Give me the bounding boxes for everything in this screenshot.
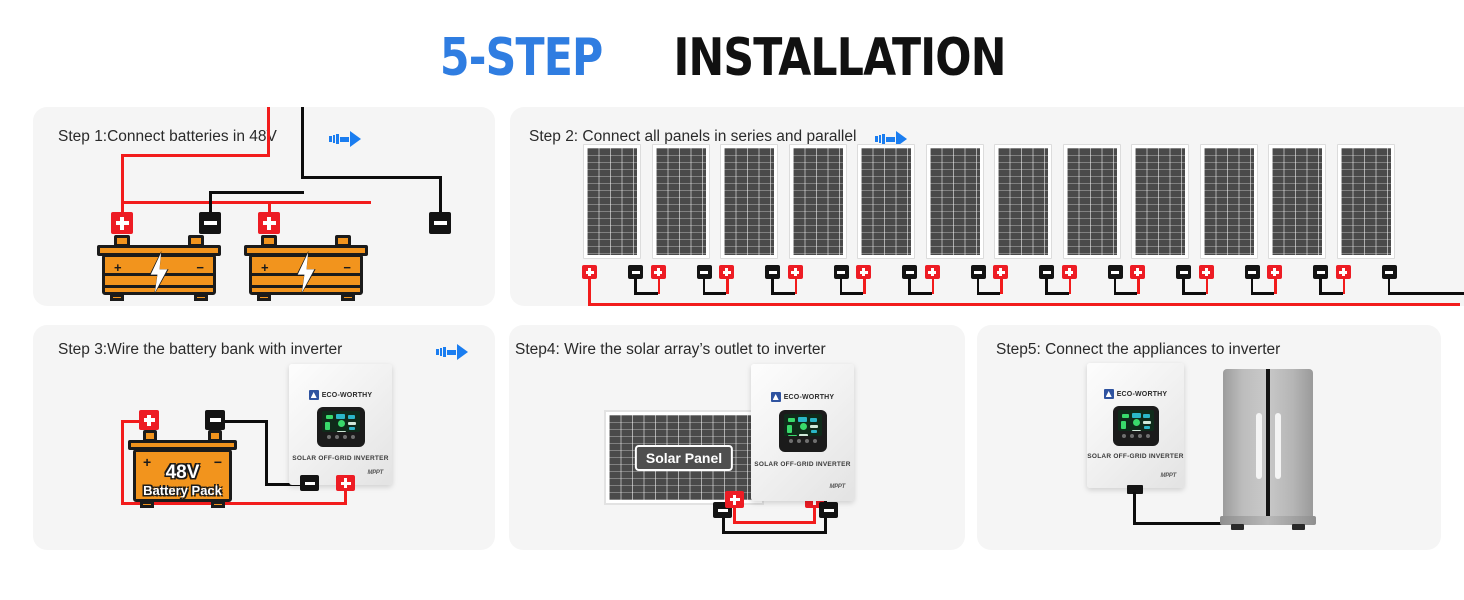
inverter-model-label: SOLAR OFF-GRID INVERTER (1087, 453, 1184, 460)
inverter-brand: ECO-WORTHY (751, 392, 854, 402)
inverter-negative-terminal-step-3 (300, 475, 319, 491)
step-2-card: Step 2: Connect all panels in series and… (510, 107, 1464, 306)
inverter-step-3: ECO-WORTHY SOLAR OFF-GRID I (289, 364, 392, 485)
panel-negative-terminal (902, 265, 917, 279)
inverter-model-label: SOLAR OFF-GRID INVERTER (751, 461, 854, 468)
battery-2-minus-symbol: − (343, 261, 351, 274)
inverter-mppt-badge: MPPT (368, 470, 383, 476)
inverter-buttons[interactable] (789, 439, 817, 443)
installation-infographic: 5-STEP INSTALLATION Step 1:Connect batte… (0, 0, 1464, 600)
solar-panel (1063, 144, 1121, 259)
solar-panel-label: Solar Panel (635, 445, 733, 471)
panel-series-wire (977, 292, 1001, 295)
panel-negative-terminal (1245, 265, 1260, 279)
battery-pack-voltage: 48V (133, 462, 232, 484)
battery-1-minus-symbol: − (196, 261, 204, 274)
refrigerator-foot-right (1292, 524, 1305, 530)
panel-series-wire (908, 292, 932, 295)
inverter-buttons[interactable] (327, 435, 355, 439)
eco-worthy-logo-icon (1104, 389, 1114, 399)
battery-2-negative-terminal (429, 212, 451, 234)
panel-negative-terminal (697, 265, 712, 279)
solar-panel (994, 144, 1052, 259)
step-3-arrow-icon (436, 344, 468, 360)
panel-positive-terminal (1336, 265, 1351, 279)
inverter-mppt-badge: MPPT (1161, 473, 1176, 479)
solar-panel (1131, 144, 1189, 259)
eco-worthy-logo-icon (771, 392, 781, 402)
inverter-lcd-screen (322, 411, 360, 432)
panel-series-wire (795, 278, 798, 294)
panel-series-wire (1274, 278, 1277, 294)
solar-panel (857, 144, 915, 259)
step-5-card: Step5: Connect the appliances to inverte… (977, 325, 1441, 550)
refrigerator-door-split (1266, 369, 1270, 525)
array-negative-lead (1388, 292, 1464, 295)
panel-series-wire (863, 278, 866, 294)
inverter-negative-terminal-step-4 (819, 502, 838, 518)
battery-2-positive-terminal (258, 212, 280, 234)
panel-positive-terminal (719, 265, 734, 279)
battery-2: + − (249, 235, 363, 295)
panel-series-wire (932, 278, 935, 294)
panel-positive-terminal (1267, 265, 1282, 279)
solar-panel (1337, 144, 1395, 259)
page-title: 5-STEP INSTALLATION (0, 32, 1464, 84)
refrigerator-handle-right (1275, 413, 1281, 479)
inverter-lcd-screen (784, 414, 822, 436)
panel-series-wire (1137, 278, 1140, 294)
inverter-buttons[interactable] (1122, 434, 1150, 438)
refrigerator-foot-left (1231, 524, 1244, 530)
inverter-brand-text: ECO-WORTHY (322, 392, 373, 399)
array-positive-bus-riser (588, 278, 591, 303)
battery-2-plus-symbol: + (261, 261, 269, 274)
panel-series-wire (1319, 292, 1343, 295)
panel-series-wire (771, 292, 795, 295)
refrigerator (1223, 369, 1313, 525)
step-1-card: Step 1:Connect batteries in 48V (33, 107, 495, 306)
panel-series-wire (1206, 278, 1209, 294)
array-positive-bus (588, 303, 1460, 306)
inverter-display (1113, 406, 1159, 446)
refrigerator-handle-left (1256, 413, 1262, 479)
panel-positive-terminal (1130, 265, 1145, 279)
panel-positive-terminal (1199, 265, 1214, 279)
panel-positive-terminal (856, 265, 871, 279)
panel-series-wire (1251, 292, 1275, 295)
panel-series-wire (1069, 278, 1072, 294)
inverter-model-label: SOLAR OFF-GRID INVERTER (289, 455, 392, 462)
inverter-step-5: ECO-WORTHY SOLAR OFF-GRID I (1087, 363, 1184, 488)
inverter-brand: ECO-WORTHY (289, 390, 392, 400)
panel-negative-terminal (1313, 265, 1328, 279)
panel-positive-terminal (925, 265, 940, 279)
panel-series-wire (1045, 292, 1069, 295)
battery-pack-positive-terminal (139, 410, 159, 430)
inverter-brand-text: ECO-WORTHY (1117, 391, 1168, 398)
inverter-positive-terminal-step-3 (336, 475, 355, 491)
inverter-mppt-badge: MPPT (830, 484, 845, 490)
panel-series-wire (703, 292, 727, 295)
panel-negative-terminal (1382, 265, 1397, 279)
panel-series-wire (634, 292, 658, 295)
step-4-card: Step4: Wire the solar array’s outlet to … (509, 325, 965, 550)
battery-1-plus-symbol: + (114, 261, 122, 274)
panel-negative-terminal (1176, 265, 1191, 279)
inverter-display (779, 410, 827, 452)
inverter-brand-text: ECO-WORTHY (784, 394, 835, 401)
panel-negative-terminal (971, 265, 986, 279)
inverter-step-4: ECO-WORTHY SOLAR OFF-GRID I (751, 364, 854, 501)
panel-negative-terminal (834, 265, 849, 279)
panel-series-wire (840, 292, 864, 295)
solar-panel (926, 144, 984, 259)
step-1-arrow-icon (329, 131, 361, 147)
battery-pack-label: Battery Pack (133, 483, 232, 498)
battery-1: + − (102, 235, 216, 295)
panel-negative-terminal (1108, 265, 1123, 279)
inverter-brand: ECO-WORTHY (1087, 389, 1184, 399)
step-3-card: Step 3:Wire the battery bank with invert… (33, 325, 495, 550)
solar-panel (789, 144, 847, 259)
panel-series-wire (1000, 278, 1003, 294)
inverter-display (317, 407, 365, 447)
inverter-lcd-screen (1118, 410, 1155, 431)
panel-positive-terminal (1062, 265, 1077, 279)
step-5-title: Step5: Connect the appliances to inverte… (996, 341, 1280, 359)
title-highlight: 5-STEP (440, 32, 603, 84)
battery-pack-negative-terminal (205, 410, 225, 430)
panel-positive-terminal (651, 265, 666, 279)
step-1-title: Step 1:Connect batteries in 48V (58, 128, 277, 146)
panel-positive-terminal (993, 265, 1008, 279)
battery-1-positive-terminal (111, 212, 133, 234)
panel-series-wire (1343, 278, 1346, 294)
panel-negative-terminal (628, 265, 643, 279)
panel-negative-terminal (1039, 265, 1054, 279)
title-rest: INSTALLATION (674, 32, 1006, 84)
solar-panel (652, 144, 710, 259)
solar-panel (583, 144, 641, 259)
panel-series-wire (658, 278, 661, 294)
step-4-title: Step4: Wire the solar array’s outlet to … (515, 341, 826, 359)
solar-panel (720, 144, 778, 259)
step-3-title: Step 3:Wire the battery bank with invert… (58, 341, 342, 359)
battery-pack-48v: + − 48V Battery Pack (133, 430, 232, 502)
panel-negative-terminal (765, 265, 780, 279)
panel-positive-terminal (582, 265, 597, 279)
battery-1-negative-terminal (199, 212, 221, 234)
appliance-cable-vertical (1133, 492, 1136, 525)
solar-panel (1268, 144, 1326, 259)
eco-worthy-logo-icon (309, 390, 319, 400)
appliance-cable-horizontal (1133, 522, 1230, 525)
panel-series-wire (726, 278, 729, 294)
solar-panel-positive-terminal (725, 491, 744, 508)
panel-positive-terminal (788, 265, 803, 279)
panel-series-wire (1182, 292, 1206, 295)
solar-panel (1200, 144, 1258, 259)
panel-series-wire (1114, 292, 1138, 295)
